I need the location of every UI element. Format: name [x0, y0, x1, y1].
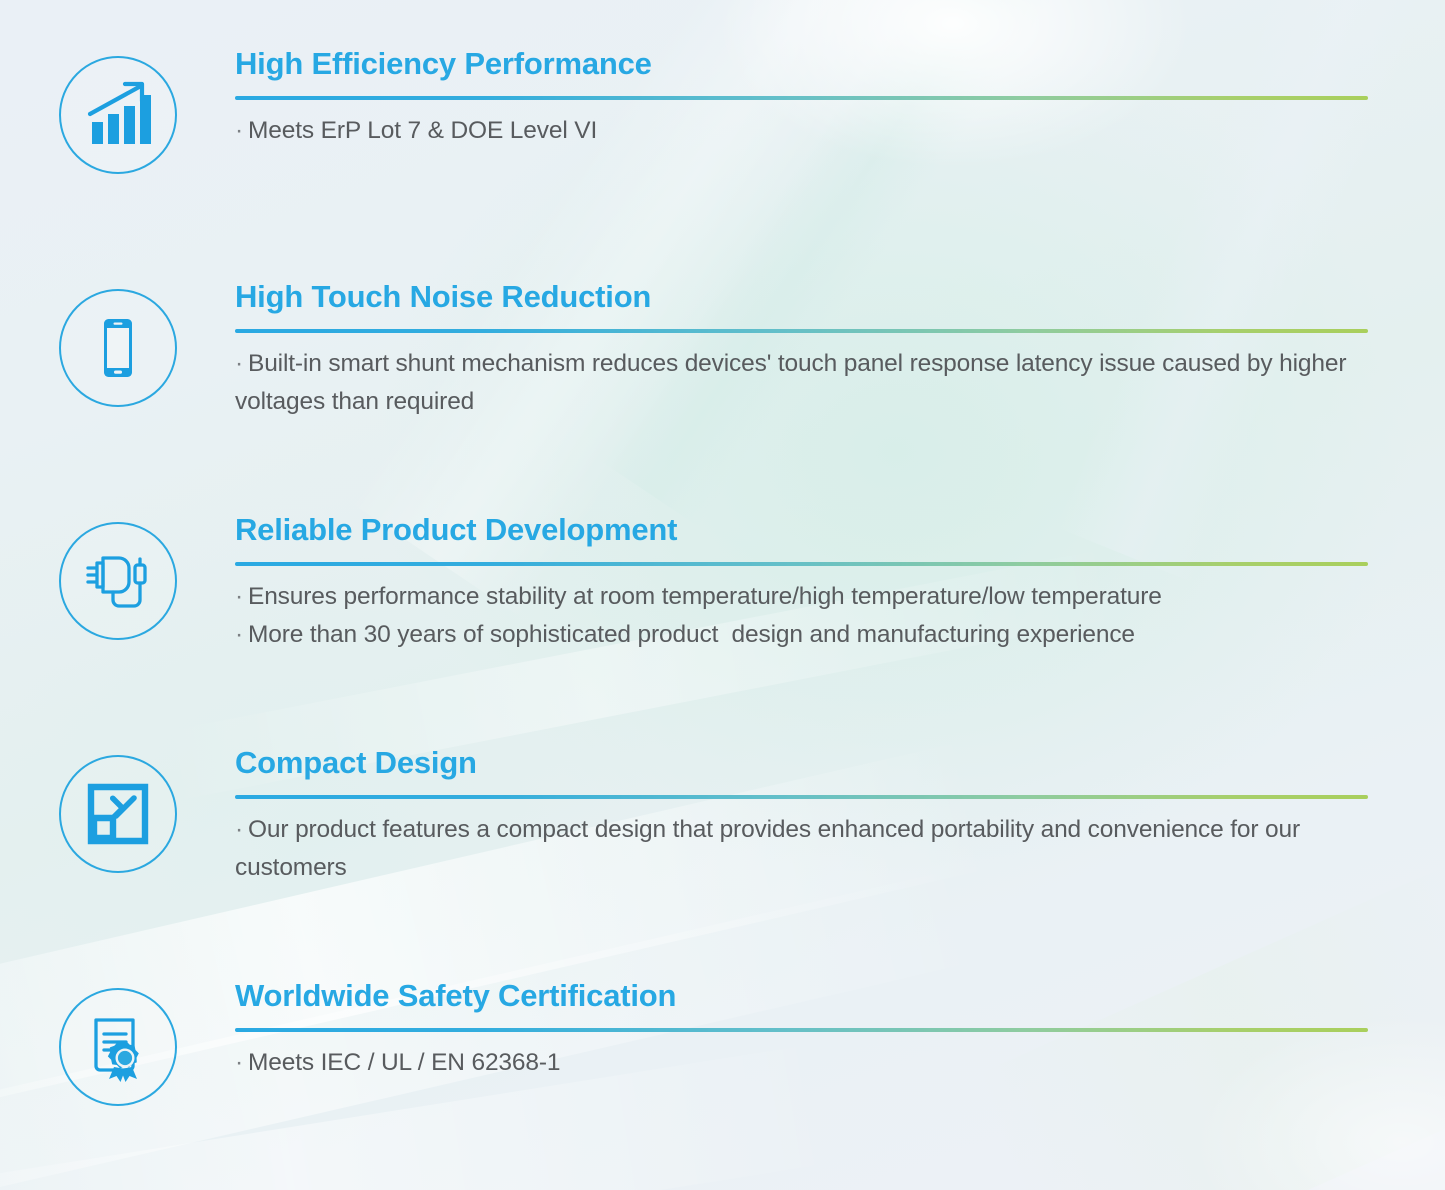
bullet-marker: · [235, 1049, 243, 1076]
bullet-text: Our product features a compact design th… [235, 816, 1307, 881]
feature-divider [235, 562, 1368, 566]
bullet-text: Built-in smart shunt mechanism reduces d… [235, 350, 1353, 415]
feature-icon-wrap [0, 38, 235, 174]
feature-list: High Efficiency Performance ·Meets ErP L… [0, 0, 1445, 1190]
bullet-text: Meets ErP Lot 7 & DOE Level VI [248, 117, 597, 144]
feature-title: Compact Design [235, 744, 1368, 782]
power-adapter-icon [59, 522, 177, 640]
feature-item-high-touch-noise-reduction: High Touch Noise Reduction ·Built-in sma… [0, 271, 1445, 504]
feature-bullets: ·Ensures performance stability at room t… [235, 578, 1368, 654]
bullet-marker: · [235, 583, 243, 610]
feature-title: High Efficiency Performance [235, 45, 1368, 83]
feature-title: High Touch Noise Reduction [235, 278, 1368, 316]
feature-divider [235, 329, 1368, 333]
feature-divider [235, 96, 1368, 100]
bullet-marker: · [235, 350, 243, 377]
feature-icon-wrap [0, 737, 235, 873]
smartphone-icon [59, 289, 177, 407]
bar-chart-growth-icon [59, 56, 177, 174]
feature-body: Compact Design ·Our product features a c… [235, 737, 1445, 887]
feature-bullet: ·Meets IEC / UL / EN 62368-1 [235, 1044, 1368, 1082]
feature-bullets: ·Meets IEC / UL / EN 62368-1 [235, 1044, 1368, 1082]
bullet-text: More than 30 years of sophisticated prod… [248, 621, 1135, 648]
feature-bullet: ·Ensures performance stability at room t… [235, 578, 1368, 616]
feature-divider [235, 1028, 1368, 1032]
feature-divider [235, 795, 1368, 799]
feature-bullets: ·Meets ErP Lot 7 & DOE Level VI [235, 112, 1368, 150]
feature-icon-wrap [0, 504, 235, 640]
feature-body: Worldwide Safety Certification ·Meets IE… [235, 970, 1445, 1082]
feature-item-compact-design: Compact Design ·Our product features a c… [0, 737, 1445, 970]
feature-bullets: ·Built-in smart shunt mechanism reduces … [235, 345, 1368, 421]
bullet-marker: · [235, 621, 243, 648]
feature-icon-wrap [0, 970, 235, 1106]
feature-body: High Efficiency Performance ·Meets ErP L… [235, 38, 1445, 150]
bullet-text: Ensures performance stability at room te… [248, 583, 1162, 610]
feature-item-worldwide-safety-certification: Worldwide Safety Certification ·Meets IE… [0, 970, 1445, 1190]
feature-bullet: ·Built-in smart shunt mechanism reduces … [235, 345, 1368, 421]
bullet-marker: · [235, 117, 243, 144]
feature-bullet: ·Our product features a compact design t… [235, 811, 1368, 887]
feature-item-reliable-product-development: Reliable Product Development ·Ensures pe… [0, 504, 1445, 737]
feature-bullet: ·Meets ErP Lot 7 & DOE Level VI [235, 112, 1368, 150]
compact-resize-icon [59, 755, 177, 873]
bullet-text: Meets IEC / UL / EN 62368-1 [248, 1049, 560, 1076]
feature-title: Reliable Product Development [235, 511, 1368, 549]
feature-body: High Touch Noise Reduction ·Built-in sma… [235, 271, 1445, 421]
feature-body: Reliable Product Development ·Ensures pe… [235, 504, 1445, 654]
feature-item-high-efficiency-performance: High Efficiency Performance ·Meets ErP L… [0, 38, 1445, 271]
bullet-marker: · [235, 816, 243, 843]
certificate-award-icon [59, 988, 177, 1106]
feature-bullets: ·Our product features a compact design t… [235, 811, 1368, 887]
feature-bullet: ·More than 30 years of sophisticated pro… [235, 616, 1368, 654]
feature-title: Worldwide Safety Certification [235, 977, 1368, 1015]
feature-icon-wrap [0, 271, 235, 407]
